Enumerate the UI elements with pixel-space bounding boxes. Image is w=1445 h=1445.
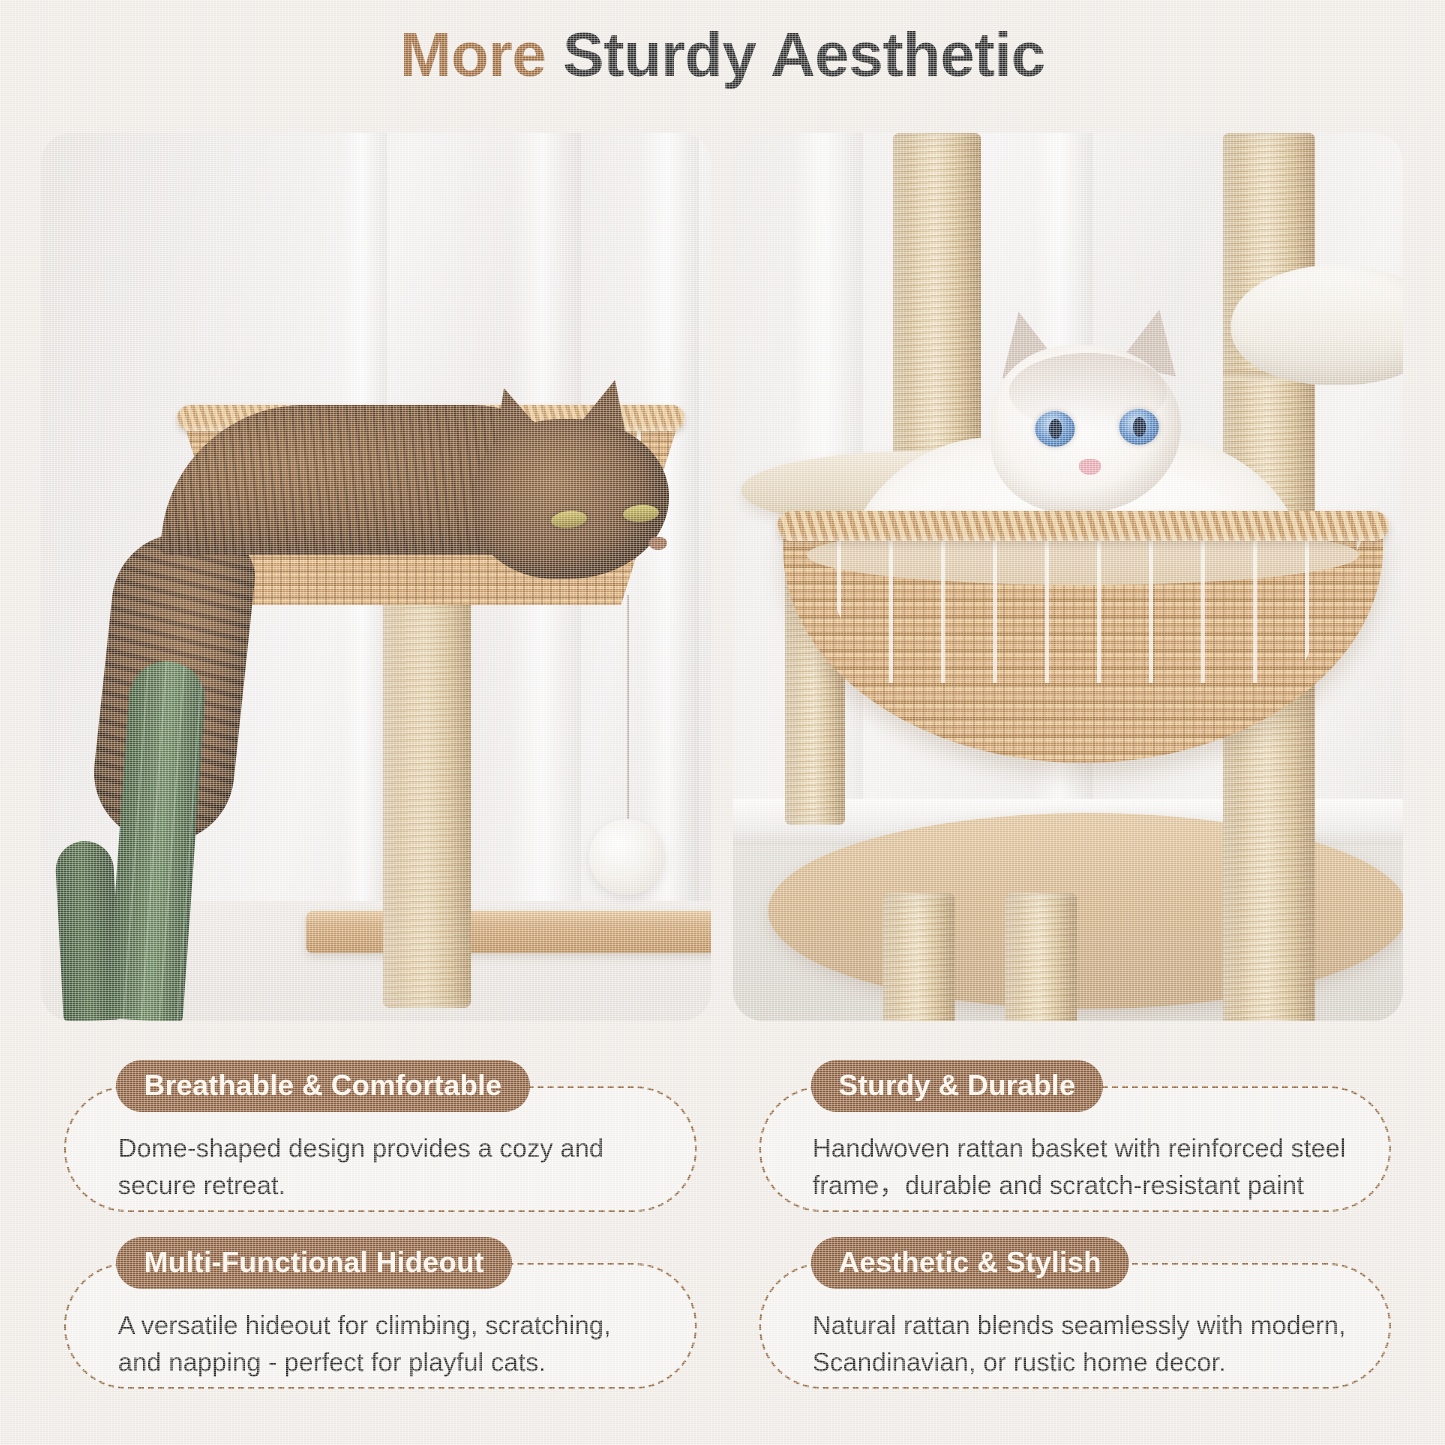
feature-badge: Sturdy & Durable bbox=[811, 1060, 1104, 1112]
page-title-main: Sturdy Aesthetic bbox=[563, 21, 1045, 90]
sisal-scratching-post bbox=[1005, 893, 1077, 1021]
feature-badge: Breathable & Comfortable bbox=[116, 1060, 530, 1112]
cat-nose bbox=[1079, 459, 1101, 475]
feature-description: Handwoven rattan basket with reinforced … bbox=[813, 1130, 1352, 1204]
feature-description: Dome-shaped design provides a cozy and s… bbox=[118, 1130, 657, 1204]
feature-item-multi-functional-hideout: Multi-Functional Hideout A versatile hid… bbox=[56, 1237, 697, 1392]
product-photo-left bbox=[41, 133, 711, 1021]
feature-description: A versatile hideout for climbing, scratc… bbox=[118, 1307, 657, 1381]
feature-item-breathable-comfortable: Breathable & Comfortable Dome-shaped des… bbox=[56, 1060, 697, 1215]
feature-badge: Multi-Functional Hideout bbox=[116, 1237, 512, 1289]
product-photo-right bbox=[733, 133, 1403, 1021]
page-title: More Sturdy Aesthetic bbox=[0, 22, 1445, 90]
wooden-shelf bbox=[306, 911, 711, 953]
sisal-scratching-post bbox=[893, 133, 981, 463]
cat-pupil bbox=[1133, 417, 1146, 437]
feature-item-sturdy-durable: Sturdy & Durable Handwoven rattan basket… bbox=[751, 1060, 1392, 1215]
feature-badge: Aesthetic & Stylish bbox=[811, 1237, 1130, 1289]
cat-nose bbox=[649, 537, 667, 550]
basket-weave-spokes bbox=[789, 533, 1377, 683]
feature-list: Breathable & Comfortable Dome-shaped des… bbox=[56, 1060, 1391, 1392]
feature-description: Natural rattan blends seamlessly with mo… bbox=[813, 1307, 1352, 1381]
toy-string bbox=[627, 595, 629, 825]
sisal-scratching-post bbox=[383, 588, 471, 1008]
sisal-scratching-post bbox=[883, 893, 955, 1021]
pom-pom-toy bbox=[589, 819, 665, 895]
basket-rim bbox=[777, 511, 1389, 541]
feature-item-aesthetic-stylish: Aesthetic & Stylish Natural rattan blend… bbox=[751, 1237, 1392, 1392]
curtain-fold bbox=[641, 133, 699, 1021]
page-title-accent: More bbox=[400, 21, 563, 90]
photo-gallery bbox=[41, 133, 1404, 1021]
cat-pupil bbox=[1049, 419, 1062, 439]
